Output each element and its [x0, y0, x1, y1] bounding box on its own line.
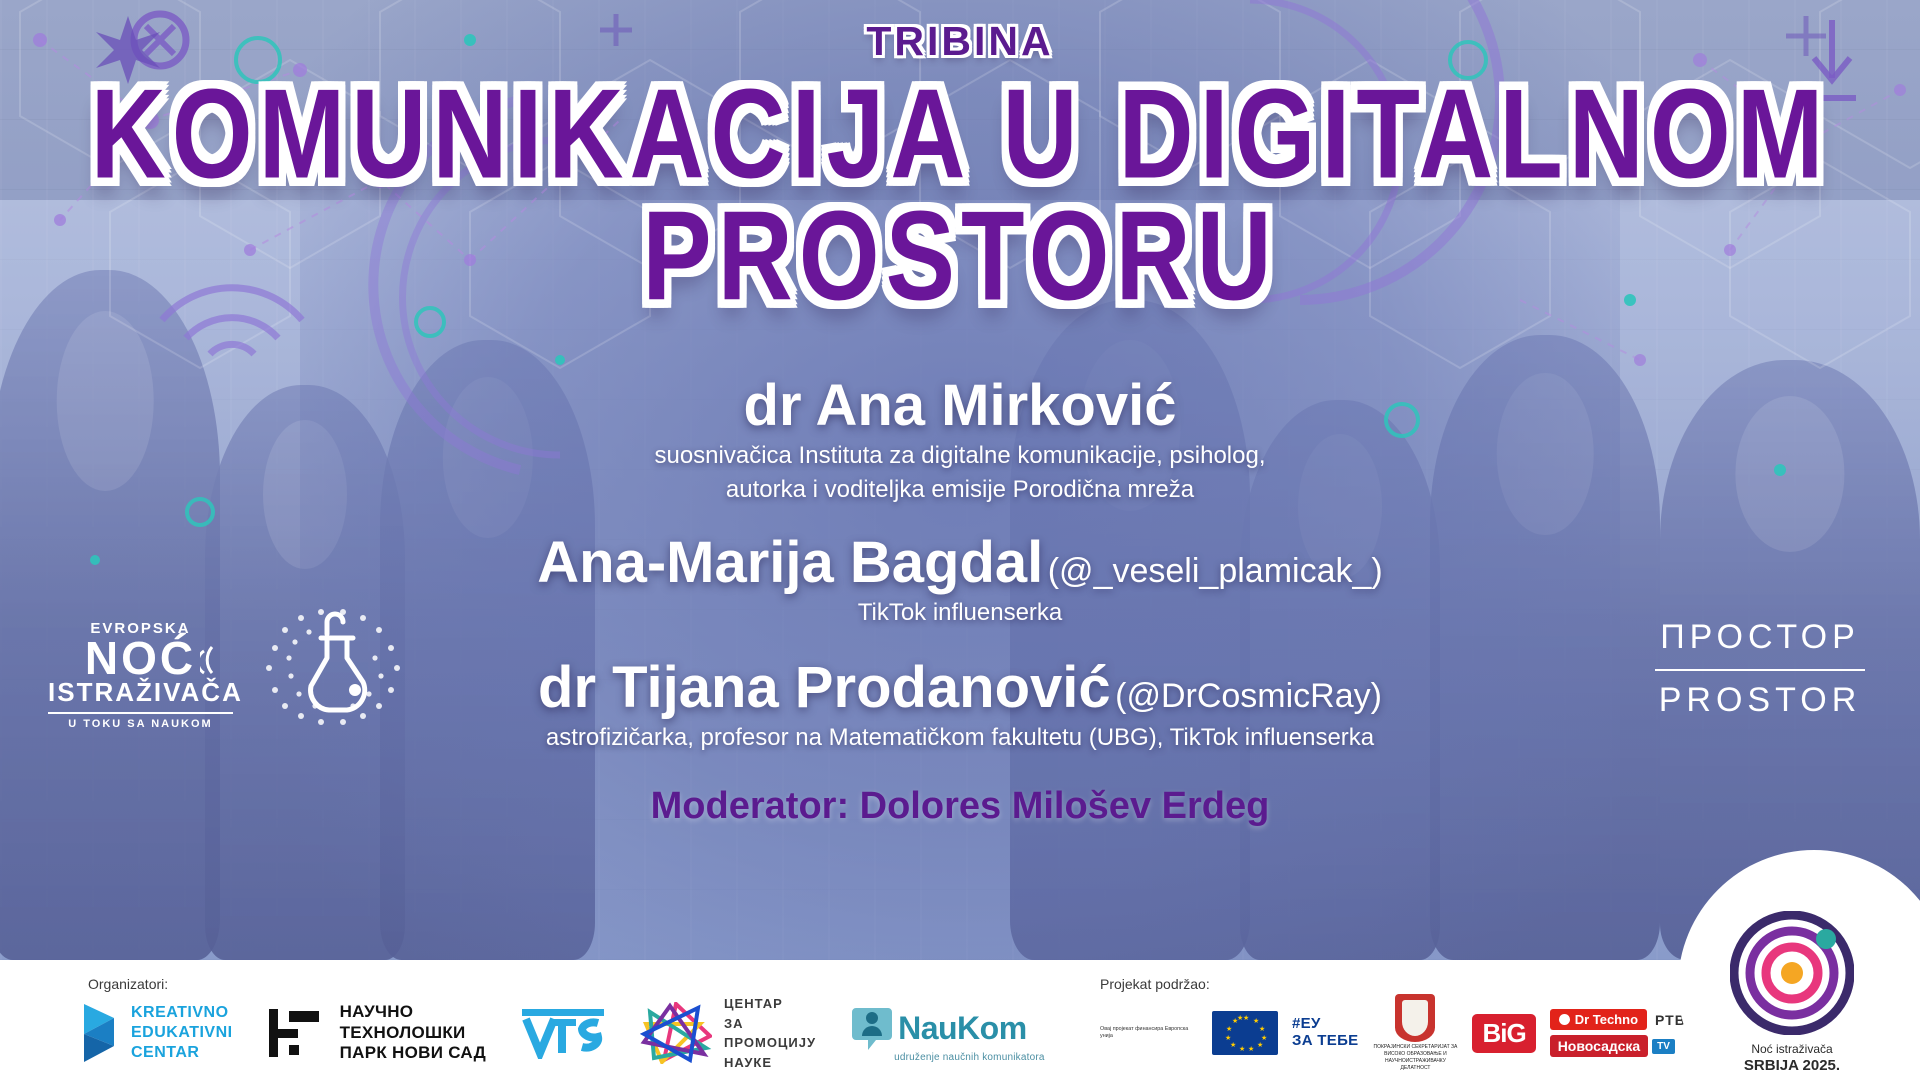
ntp-line-3: ПАРК НОВИ САД [340, 1043, 486, 1064]
moderator-line: Moderator: Dolores Milošev Erdeg [300, 785, 1620, 828]
eu-slogan-line-1: #ЕУ [1292, 1016, 1358, 1033]
speakers-list: dr Ana Mirković suosnivačica Instituta z… [300, 372, 1620, 828]
kec-line-2: EDUKATIVNI [131, 1023, 233, 1043]
cpn-mark-icon [640, 1002, 712, 1064]
logo-dr-techno[interactable]: Dr Techno [1550, 1009, 1647, 1030]
noc-logo-divider [48, 712, 233, 714]
ntp-text: НАУЧНО ТЕХНОЛОШКИ ПАРК НОВИ САД [340, 1002, 486, 1064]
eu-funding-note: Овај пројекат финансира Европска унија [1100, 1026, 1198, 1041]
noc-badge-rings-icon [1730, 911, 1854, 1035]
ntp-line-2: ТЕХНОЛОШКИ [340, 1023, 486, 1044]
eu-za-tebe-slogan: #ЕУ ЗА ТЕБЕ [1292, 1016, 1358, 1050]
page-title: KOMUNIKACIJA U DIGITALNOM PROSTORU [0, 75, 1920, 319]
dr-techno-label: Dr Techno [1575, 1012, 1638, 1027]
naukom-wordmark: NauKom [898, 1010, 1027, 1047]
eu-flag-icon: ★ ★ ★ ★ ★ ★ ★ ★ ★ ★ ★ ★ [1212, 1011, 1278, 1055]
noc-logo-main-word: NOĆ [85, 637, 196, 679]
speaker-entry: Ana-Marija Bagdal (@_veseli_plamicak_) T… [300, 529, 1620, 630]
eu-slogan-line-2: ЗА ТЕБЕ [1292, 1033, 1358, 1050]
speaker-name: dr Ana Mirković [744, 373, 1177, 438]
prostor-logo-cyrillic: ПРОСТОР [1655, 618, 1865, 657]
noc-badge-line-2: SRBIJA 2025. [1744, 1057, 1840, 1074]
title-line-1: KOMUNIKACIJA U DIGITALNOM [0, 75, 1920, 197]
noc-logo-tagline: U TOKU SA NAUKOM [48, 718, 233, 730]
logo-vts[interactable] [520, 1003, 606, 1064]
speaker-entry: dr Tijana Prodanović (@DrCosmicRay) astr… [300, 654, 1620, 755]
kec-line-3: CENTAR [131, 1043, 233, 1063]
prostor-logo-divider [1655, 669, 1865, 671]
apv-secretariat-logo[interactable]: ПОКРАЈИНСКИ СЕКРЕТАРИЈАТ ЗА ВИСОКО ОБРАЗ… [1372, 994, 1458, 1072]
speaker-name: Ana-Marija Bagdal [537, 530, 1043, 595]
logo-naucno-tehnoloski-park[interactable]: НАУЧНО ТЕХНОЛОШКИ ПАРК НОВИ САД [267, 1002, 486, 1064]
logo-centar-za-promociju-nauke[interactable]: ЦЕНТАР ЗА ПРОМОЦИЈУ НАУКЕ [640, 994, 816, 1072]
speaker-entry: dr Ana Mirković suosnivačica Instituta z… [300, 372, 1620, 507]
speaker-name: dr Tijana Prodanović [538, 655, 1111, 720]
noc-badge-line-1: Noć istraživača [1692, 1042, 1892, 1057]
prostor-logo: ПРОСТОР PROSTOR [1655, 618, 1865, 720]
support-label: Projekat podržao: [1100, 976, 1210, 992]
naukom-speech-icon [850, 1004, 894, 1054]
title-line-2: PROSTORU [0, 197, 1920, 319]
speaker-handle: (@_veseli_plamicak_) [1048, 552, 1383, 590]
cpn-line-1: ЦЕНТАР [724, 994, 816, 1014]
flask-dots-logo [255, 600, 420, 730]
ntp-line-1: НАУЧНО [340, 1002, 486, 1023]
coat-of-arms-icon [1395, 994, 1435, 1042]
speaker-name-row: dr Tijana Prodanović (@DrCosmicRay) [300, 654, 1620, 721]
speaker-description-line: autorka i voditeljka emisije Porodična m… [300, 473, 1620, 507]
sponsor-bar: Organizatori: KREATIVNO EDUKATIVNI CENTA… [0, 960, 1920, 1080]
noc-badge-text: Noć istraživača SRBIJA 2025. [1692, 1042, 1892, 1076]
logo-big[interactable]: BiG [1472, 1014, 1535, 1053]
media-partner-logos: Dr Techno РТВ Новосадска TV [1550, 1009, 1686, 1057]
speaker-description-line: suosnivačica Instituta za digitalne komu… [300, 439, 1620, 473]
kicker-tribina: TRIBINA [0, 18, 1920, 65]
cpn-line-4: НАУКЕ [724, 1053, 816, 1073]
ntp-mark-icon [267, 1005, 329, 1061]
signal-arcs-icon [200, 643, 230, 677]
organizers-label: Organizatori: [88, 976, 168, 992]
prostor-logo-latin: PROSTOR [1655, 681, 1865, 720]
kec-text: KREATIVNO EDUKATIVNI CENTAR [131, 1003, 233, 1063]
novosadska-tv-tag: TV [1652, 1039, 1675, 1054]
naukom-row: NauKom [850, 1004, 1027, 1054]
dr-techno-dot-icon [1559, 1014, 1570, 1025]
speaker-description-line: astrofizičarka, profesor na Matematičkom… [300, 721, 1620, 755]
speaker-name-row: dr Ana Mirković [300, 372, 1620, 439]
noc-srbija-badge[interactable]: Noć istraživača SRBIJA 2025. [1692, 911, 1892, 1076]
naukom-tagline: udruženje naučnih komunikatora [894, 1052, 1045, 1063]
vts-mark-icon [520, 1003, 606, 1059]
cpn-text: ЦЕНТАР ЗА ПРОМОЦИЈУ НАУКЕ [724, 994, 816, 1072]
logo-novosadska-tv[interactable]: Новосадска [1550, 1035, 1648, 1057]
kec-mark-icon [80, 1002, 122, 1064]
apv-secretariat-text: ПОКРАЈИНСКИ СЕКРЕТАРИЈАТ ЗА ВИСОКО ОБРАЗ… [1372, 1044, 1458, 1072]
logo-kreativno-edukativni-centar[interactable]: KREATIVNO EDUKATIVNI CENTAR [80, 1002, 233, 1064]
poster-canvas: TRIBINA KOMUNIKACIJA U DIGITALNOM PROSTO… [0, 0, 1920, 1080]
kec-line-1: KREATIVNO [131, 1003, 233, 1023]
title-block: TRIBINA KOMUNIKACIJA U DIGITALNOM PROSTO… [0, 18, 1920, 275]
speaker-description-line: TikTok influenserka [300, 596, 1620, 630]
organizer-logos: KREATIVNO EDUKATIVNI CENTAR НАУЧНО ТЕХНО… [80, 994, 1045, 1072]
noc-istrazivaca-logo: EVROPSKA NOĆ ISTRAŽIVAČA U TOKU SA NAUKO… [48, 620, 233, 730]
logo-naukom[interactable]: NauKom udruženje naučnih komunikatora [850, 1004, 1045, 1063]
speaker-name-row: Ana-Marija Bagdal (@_veseli_plamicak_) [300, 529, 1620, 596]
speaker-handle: (@DrCosmicRay) [1115, 677, 1382, 715]
cpn-line-3: ПРОМОЦИЈУ [724, 1033, 816, 1053]
cpn-line-2: ЗА [724, 1014, 816, 1034]
